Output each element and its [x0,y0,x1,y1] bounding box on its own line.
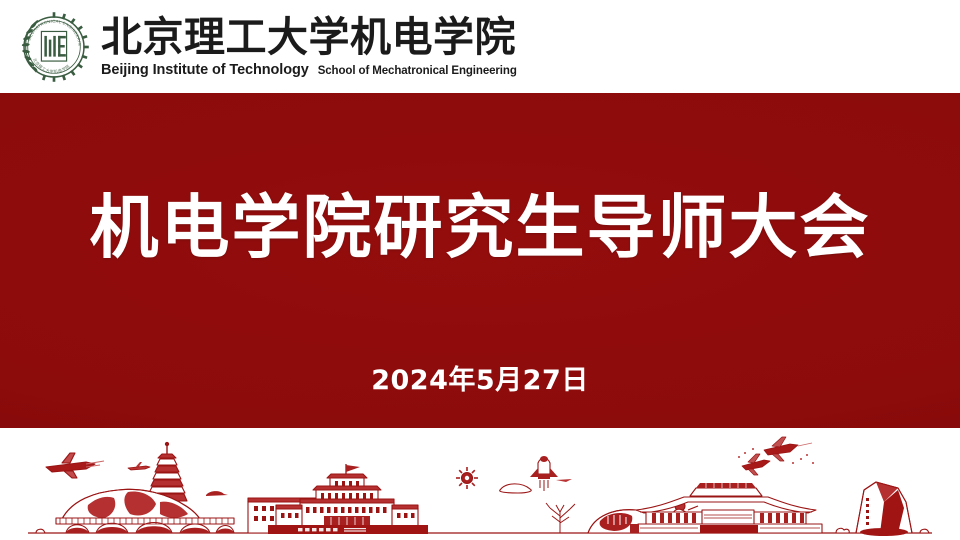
campus-skyline-illustration [0,428,960,540]
presentation-slide: MECHATRONICAL ENGINEERING 北京理工大学机电学院 北京理… [0,0,960,540]
stone-bridge-icon [56,518,234,533]
grand-pavilion-hall-icon [630,483,822,533]
bare-tree-icon [546,503,575,533]
logo-lockup: MECHATRONICAL ENGINEERING 北京理工大学机电学院 北京理… [17,10,517,84]
wordmark-english-school: School of Mechatronical Engineering [318,65,517,77]
wordmark-chinese: 北京理工大学机电学院 [101,15,517,60]
skyline-svg [0,428,960,540]
airplane-icon [46,453,104,478]
page-title: 机电学院研究生导师大会 [0,189,960,267]
cloud-icon [206,491,228,496]
event-date: 2024年5月27日 [0,365,960,397]
cloud-shape-icon [500,484,532,493]
bit-mechatronics-emblem-icon: MECHATRONICAL ENGINEERING 北京理工大学机电学院 [17,10,91,84]
wordmark-english-row: Beijing Institute of Technology School o… [101,62,517,78]
sun-radar-icon [456,467,478,489]
biplane-icon [764,437,812,461]
shrub-left-icon [36,529,45,533]
monument-sculpture-icon [856,482,912,536]
wordmark: 北京理工大学机电学院 Beijing Institute of Technolo… [101,15,517,78]
biplane-small-icon [742,454,770,475]
slide-header: MECHATRONICAL ENGINEERING 北京理工大学机电学院 北京理… [0,0,960,93]
small-jet-icon [128,462,150,470]
title-banner: 机电学院研究生导师大会 2024年5月27日 [0,93,960,428]
rocket-launch-icon [530,456,572,491]
wordmark-english-university: Beijing Institute of Technology [101,62,309,78]
